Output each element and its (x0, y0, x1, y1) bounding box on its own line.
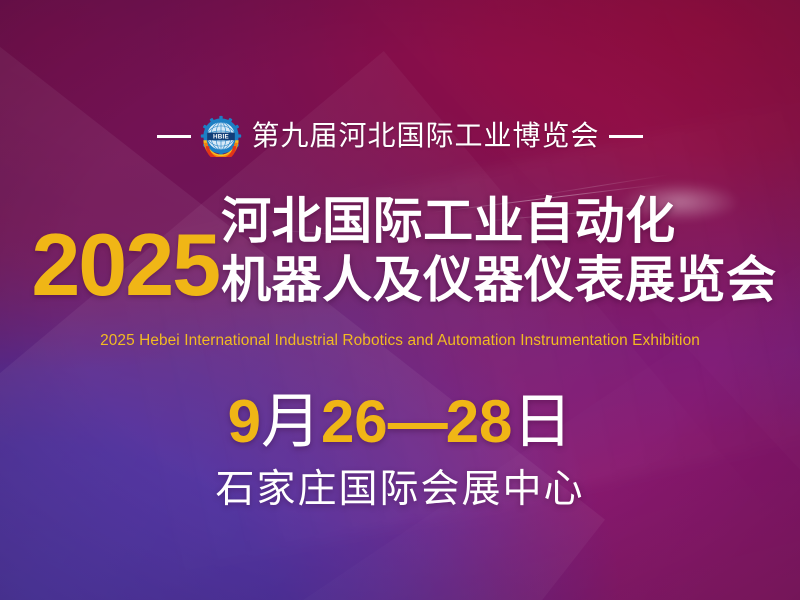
date-month-number: 9 (228, 388, 261, 455)
banner-header: HBIE 第九届河北国际工业博览会 (0, 112, 800, 160)
date-day-unit: 日 (512, 388, 572, 455)
title-line-1: 河北国际工业自动化 (221, 192, 777, 251)
date-day-start: 26 (321, 388, 388, 455)
left-rule-divider (157, 135, 191, 138)
date-month-unit: 月 (261, 388, 321, 455)
svg-text:HBIE: HBIE (214, 134, 230, 141)
header-title-text: 第九届河北国际工业博览会 (251, 122, 599, 150)
title-line-2: 机器人及仪器仪表展览会 (221, 251, 777, 310)
date-day-separator: — (388, 388, 446, 455)
right-rule-divider (609, 135, 643, 138)
english-subtitle: 2025 Hebei International Industrial Robo… (0, 332, 800, 350)
venue-name: 石家庄国际会展中心 (0, 470, 800, 509)
exhibition-banner: HBIE 第九届河北国际工业博览会 2025 河北国际工业自动化 机器人及仪器仪… (0, 0, 800, 600)
title-lines: 河北国际工业自动化 机器人及仪器仪表展览会 (221, 192, 777, 310)
hbie-globe-gear-logo-icon: HBIE (200, 115, 242, 157)
year-label: 2025 (31, 225, 219, 306)
main-title-block: 2025 河北国际工业自动化 机器人及仪器仪表展览会 (0, 192, 800, 310)
date-day-end: 28 (446, 388, 513, 455)
event-date: 9月26—28日 (0, 392, 800, 452)
